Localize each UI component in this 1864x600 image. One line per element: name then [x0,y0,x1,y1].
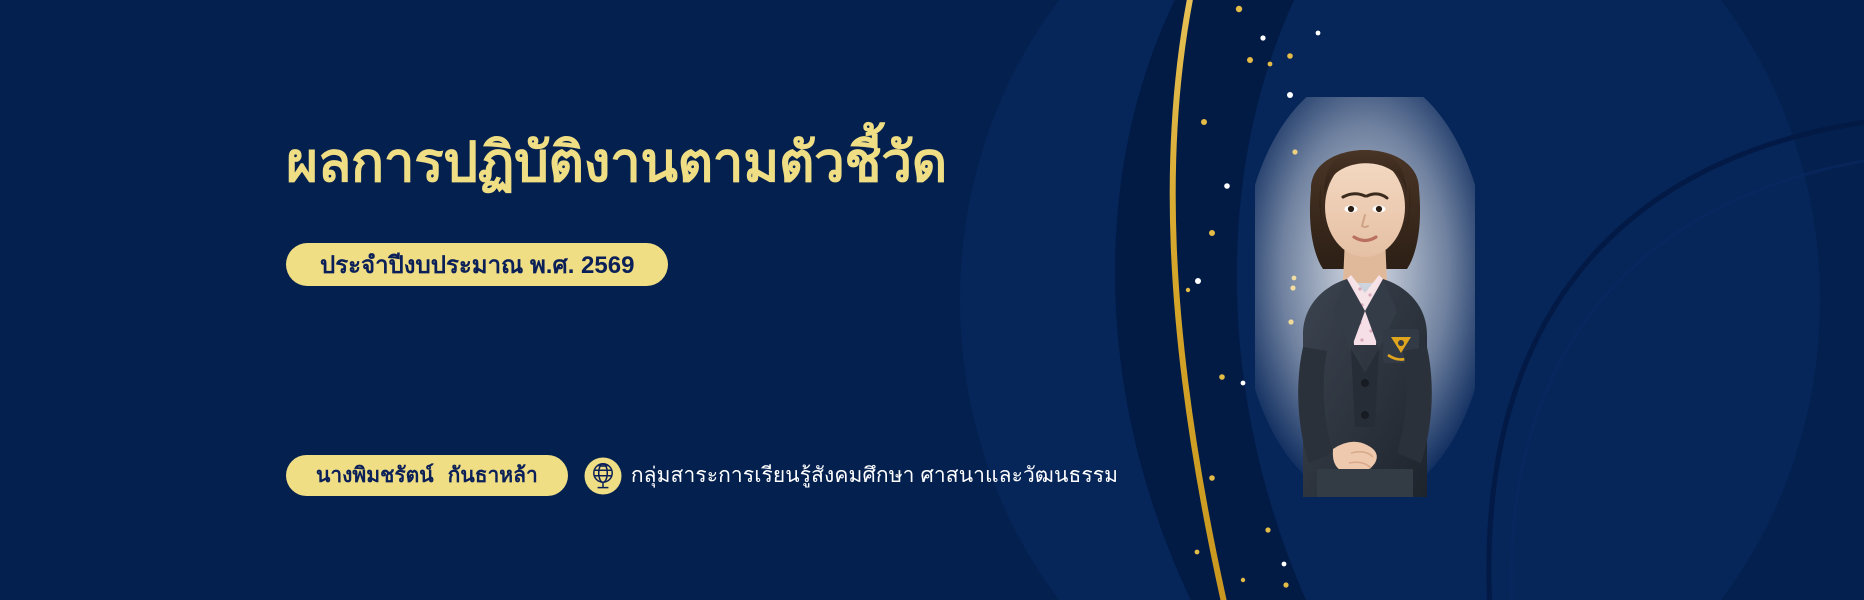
department-label: กลุ่มสาระการเรียนรู้สังคมศึกษา ศาสนาและว… [631,459,1118,492]
teacher-last-name: กันธาหล้า [448,459,538,492]
page-title: ผลการปฏิบัติงานตามตัวชี้วัด [286,128,947,197]
fiscal-year-label: ประจำปีงบประมาณ พ.ศ. 2569 [320,245,634,284]
performance-report-banner: ผลการปฏิบัติงานตามตัวชี้วัด ประจำปีงบประ… [0,0,1864,600]
globe-icon [584,457,622,495]
teacher-first-name: นางพิมชรัตน์ [316,459,434,492]
banner-content: ผลการปฏิบัติงานตามตัวชี้วัด ประจำปีงบประ… [0,0,1000,600]
footer-row: นางพิมชรัตน์ กันธาหล้า [286,455,1118,496]
fiscal-year-badge: ประจำปีงบประมาณ พ.ศ. 2569 [286,243,668,286]
teacher-name-badge: นางพิมชรัตน์ กันธาหล้า [286,455,568,496]
portrait-photo [1255,97,1475,497]
